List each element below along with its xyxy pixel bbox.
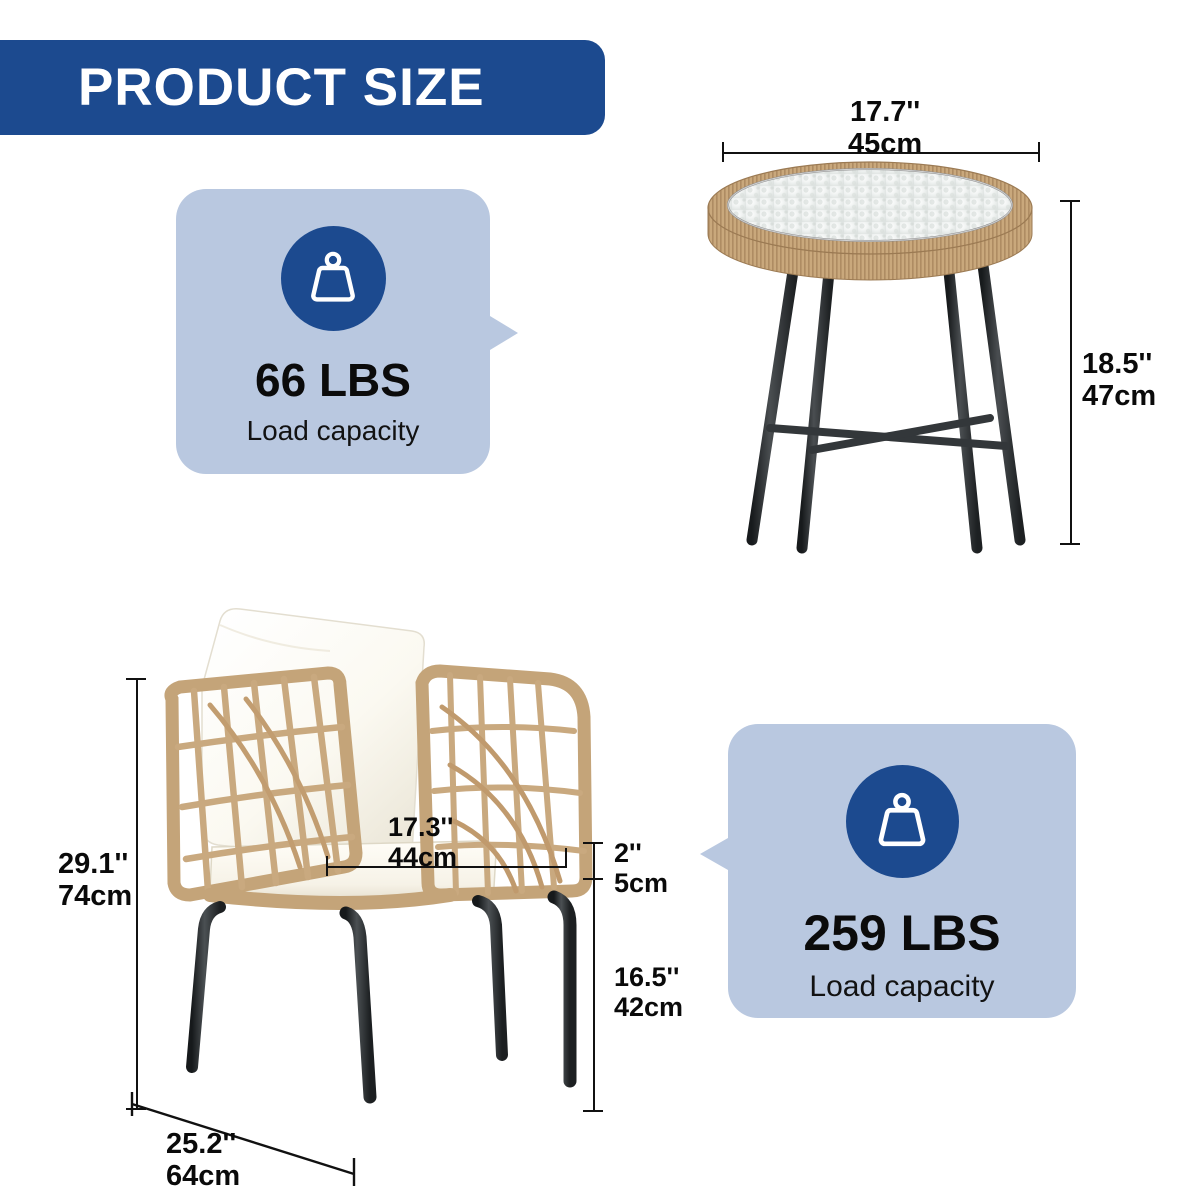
dimension-label-chair-depth: 25.2'' 64cm	[166, 1128, 240, 1193]
dimension-cap	[1060, 200, 1080, 202]
infographic-canvas: PRODUCT SIZE 66 LBS Load capacity 259 LB…	[0, 0, 1200, 1200]
dimension-label-table-height: 18.5'' 47cm	[1082, 348, 1156, 413]
weight-icon	[281, 226, 386, 331]
dimension-line-chair-height	[136, 678, 138, 1110]
dimension-cap	[1060, 543, 1080, 545]
dimension-cap	[583, 1110, 603, 1112]
badge-caption: Load capacity	[247, 417, 420, 445]
armchair-illustration	[150, 595, 620, 1135]
dimension-cap	[583, 842, 603, 844]
table-legs	[752, 258, 1020, 548]
dimension-cap	[126, 678, 146, 680]
page-title: PRODUCT SIZE	[0, 61, 485, 114]
side-table-illustration	[690, 150, 1090, 590]
chair-legs	[192, 897, 570, 1097]
weight-icon	[846, 765, 959, 878]
badge-table-load-capacity: 66 LBS Load capacity	[176, 189, 490, 474]
dimension-label-chair-height: 29.1'' 74cm	[58, 848, 128, 913]
header-banner: PRODUCT SIZE	[0, 40, 605, 135]
dimension-label-seat-height: 16.5'' 42cm	[614, 962, 683, 1022]
table-top	[708, 162, 1032, 280]
dimension-label-cushion-thickness: 2'' 5cm	[614, 838, 668, 898]
dimension-line-seat-height	[593, 880, 595, 1112]
dimension-label-seat-width: 17.3'' 44cm	[388, 812, 457, 872]
badge-chair-load-capacity: 259 LBS Load capacity	[728, 724, 1076, 1018]
dimension-label-table-width: 17.7'' 45cm	[848, 96, 922, 161]
badge-tail-left	[700, 838, 728, 870]
badge-caption: Load capacity	[809, 972, 994, 1002]
dimension-cap	[722, 142, 724, 162]
dimension-line-table-height	[1070, 200, 1072, 545]
badge-value: 66 LBS	[255, 357, 411, 403]
dimension-line-cushion-thickness	[593, 842, 595, 880]
badge-tail-right	[490, 316, 518, 350]
dimension-cap	[565, 848, 567, 868]
dimension-line-chair-depth	[122, 1082, 382, 1202]
dimension-cap	[326, 856, 328, 876]
dimension-cap	[1038, 142, 1040, 162]
badge-value: 259 LBS	[803, 908, 1000, 958]
